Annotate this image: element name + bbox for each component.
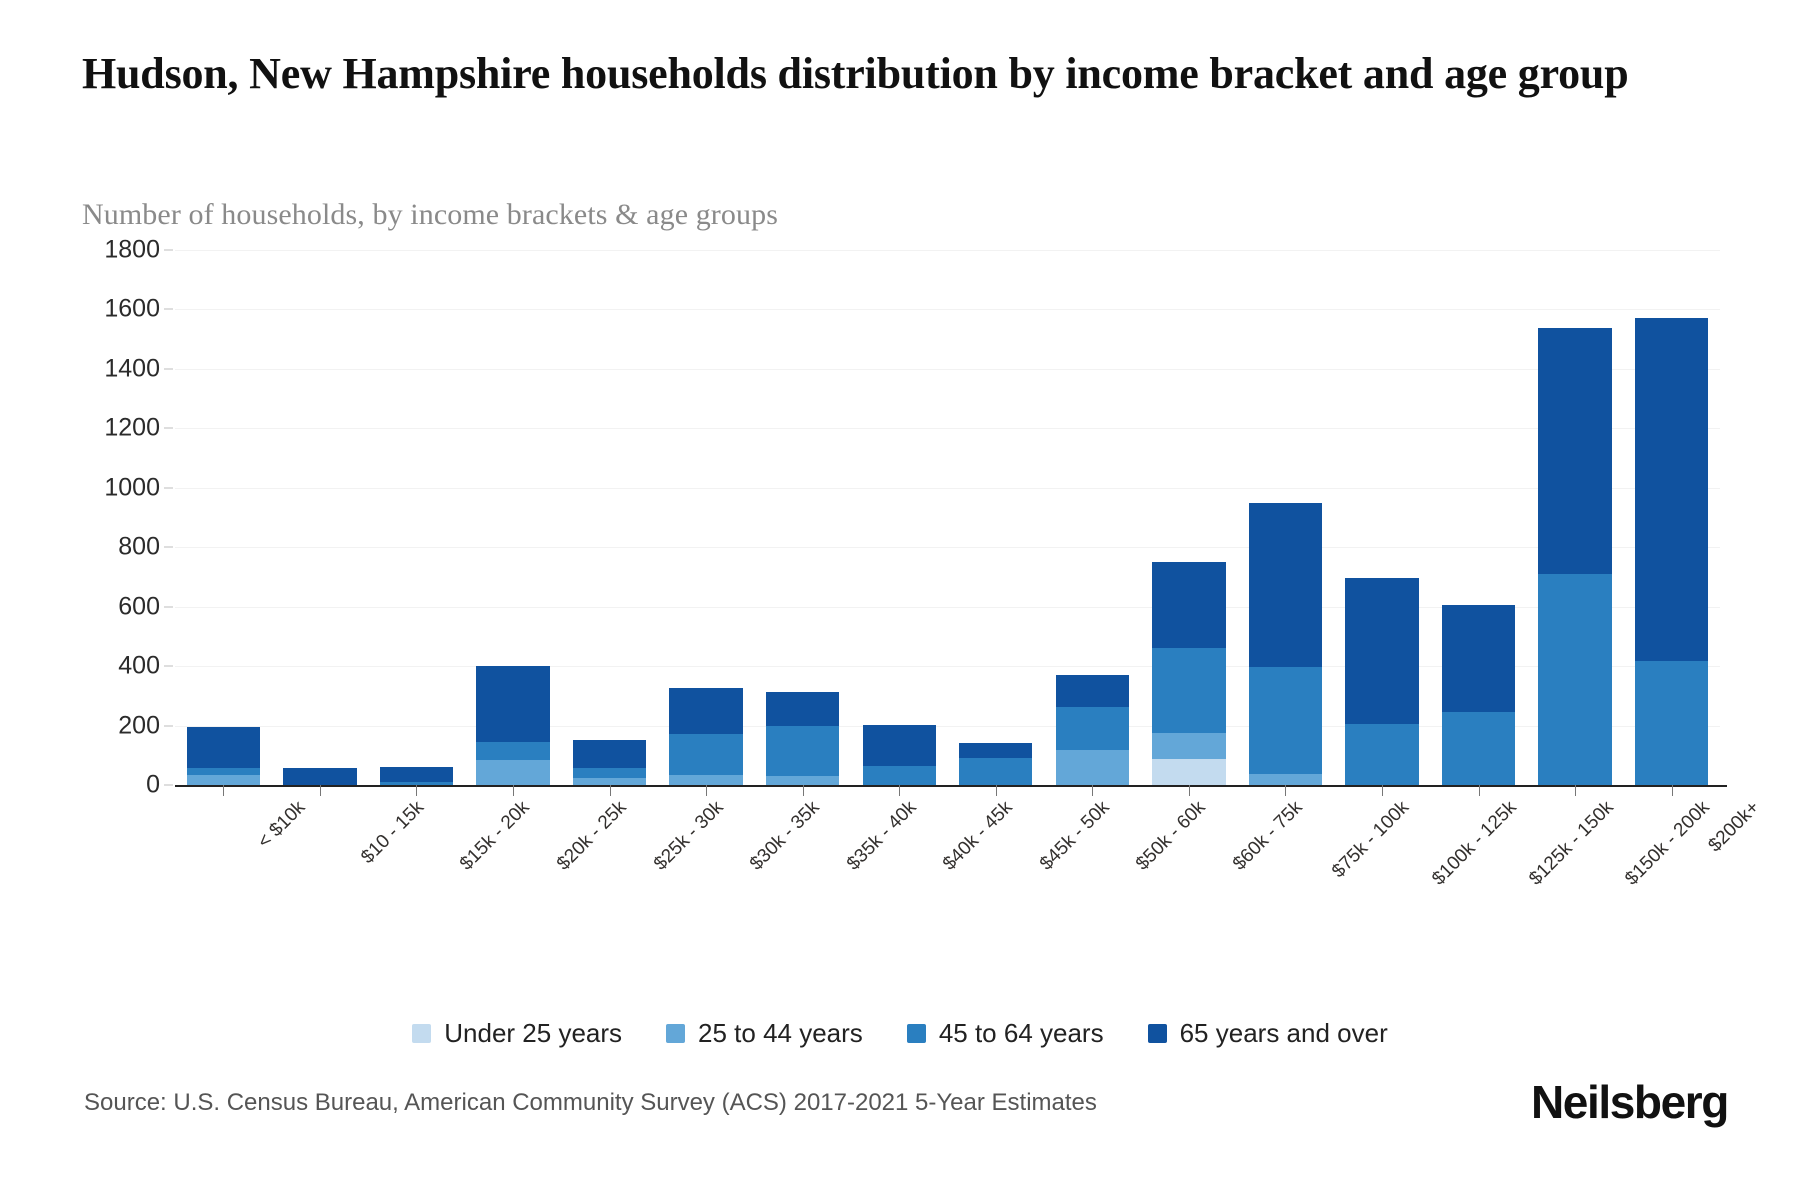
- legend-label: 25 to 44 years: [698, 1018, 863, 1049]
- x-axis-label: $20k - 25k: [553, 797, 631, 875]
- y-axis-label: 1800: [0, 236, 160, 265]
- bar-segment[interactable]: [766, 692, 839, 727]
- bar-segment[interactable]: [573, 778, 646, 785]
- bar-segment[interactable]: [476, 760, 549, 785]
- x-axis-tickmarks: [175, 785, 1720, 797]
- bar-series-area: [175, 250, 1720, 785]
- x-axis-label: $50k - 60k: [1132, 797, 1210, 875]
- bar-segment[interactable]: [1249, 774, 1322, 785]
- y-axis-label: 1600: [0, 295, 160, 324]
- legend-item[interactable]: 65 years and over: [1148, 1018, 1388, 1049]
- bar-segment[interactable]: [1152, 648, 1225, 734]
- legend-swatch-icon: [907, 1024, 926, 1043]
- legend-swatch-icon: [666, 1024, 685, 1043]
- legend-item[interactable]: 45 to 64 years: [907, 1018, 1104, 1049]
- y-axis-tickmark: [164, 368, 173, 369]
- bar-segment[interactable]: [573, 768, 646, 778]
- bar-segment[interactable]: [476, 742, 549, 760]
- x-axis-tickmark: [803, 785, 804, 796]
- y-axis-label: 0: [0, 771, 160, 800]
- y-axis-label: 1200: [0, 414, 160, 443]
- source-note: Source: U.S. Census Bureau, American Com…: [84, 1089, 1097, 1117]
- stacked-bar[interactable]: [476, 666, 549, 785]
- chart-legend: Under 25 years25 to 44 years45 to 64 yea…: [0, 1018, 1800, 1049]
- bar-segment[interactable]: [1345, 578, 1418, 724]
- y-axis-tickmark: [164, 309, 173, 310]
- stacked-bar[interactable]: [669, 688, 742, 785]
- bar-segment[interactable]: [1249, 503, 1322, 667]
- stacked-bar[interactable]: [1249, 503, 1322, 785]
- x-axis-tickmark: [1479, 785, 1480, 796]
- bar-slot[interactable]: [561, 250, 658, 785]
- stacked-bar[interactable]: [1635, 318, 1708, 785]
- bar-segment[interactable]: [573, 740, 646, 768]
- y-axis-label: 600: [0, 592, 160, 621]
- bar-slot[interactable]: [1237, 250, 1334, 785]
- bar-segment[interactable]: [1152, 562, 1225, 648]
- bar-segment[interactable]: [766, 776, 839, 785]
- bar-segment[interactable]: [380, 767, 453, 782]
- bar-segment[interactable]: [669, 688, 742, 735]
- y-axis-tickmark: [164, 487, 173, 488]
- y-axis-tickmark: [164, 606, 173, 607]
- x-axis-tickmark: [416, 785, 417, 796]
- x-axis-tickmark: [223, 785, 224, 796]
- bar-segment[interactable]: [1538, 328, 1611, 574]
- bar-slot[interactable]: [272, 250, 369, 785]
- bar-segment[interactable]: [1345, 724, 1418, 785]
- bar-segment[interactable]: [766, 726, 839, 776]
- bar-segment[interactable]: [187, 727, 260, 768]
- x-axis-label: $200k+: [1704, 797, 1764, 857]
- bar-segment[interactable]: [1249, 667, 1322, 774]
- y-axis-tickmark: [164, 428, 173, 429]
- x-axis-label: $35k - 40k: [843, 797, 921, 875]
- bar-slot[interactable]: [1623, 250, 1720, 785]
- y-axis-tickmark: [164, 666, 173, 667]
- y-axis-tickmark: [164, 547, 173, 548]
- bar-segment[interactable]: [283, 768, 356, 785]
- bar-segment[interactable]: [669, 775, 742, 785]
- y-axis-tickmark: [164, 250, 173, 251]
- stacked-bar[interactable]: [1345, 578, 1418, 785]
- x-axis-label: $45k - 50k: [1036, 797, 1114, 875]
- bar-segment[interactable]: [1056, 707, 1129, 750]
- x-axis-label: $40k - 45k: [939, 797, 1017, 875]
- y-axis-tickmark: [164, 785, 173, 786]
- x-axis-label: $100k - 125k: [1428, 797, 1521, 890]
- stacked-bar[interactable]: [1152, 562, 1225, 785]
- bar-slot[interactable]: [1044, 250, 1141, 785]
- chart-subtitle: Number of households, by income brackets…: [82, 198, 1382, 232]
- bar-slot[interactable]: [754, 250, 851, 785]
- stacked-bar[interactable]: [187, 727, 260, 785]
- x-axis-label: < $10k: [254, 797, 310, 853]
- bar-segment[interactable]: [1442, 605, 1515, 713]
- legend-label: Under 25 years: [444, 1018, 622, 1049]
- bar-segment[interactable]: [476, 666, 549, 742]
- bar-slot[interactable]: [1334, 250, 1431, 785]
- bar-slot[interactable]: [948, 250, 1045, 785]
- bar-segment[interactable]: [863, 725, 936, 766]
- bar-segment[interactable]: [959, 758, 1032, 785]
- bar-slot[interactable]: [851, 250, 948, 785]
- stacked-bar[interactable]: [863, 725, 936, 785]
- bar-slot[interactable]: [1141, 250, 1238, 785]
- bar-segment[interactable]: [669, 734, 742, 775]
- bar-slot[interactable]: [1430, 250, 1527, 785]
- brand-logo: Neilsberg: [1531, 1075, 1728, 1129]
- x-axis-tickmark: [996, 785, 997, 796]
- x-axis-tickmark: [1672, 785, 1673, 796]
- bar-slot[interactable]: [658, 250, 755, 785]
- x-axis-tickmark: [706, 785, 707, 796]
- bar-segment[interactable]: [1442, 712, 1515, 785]
- x-axis-tickmark: [610, 785, 611, 796]
- y-axis-label: 200: [0, 711, 160, 740]
- x-axis-tickmark: [1382, 785, 1383, 796]
- x-axis-tickmark: [1285, 785, 1286, 796]
- bar-segment[interactable]: [187, 768, 260, 775]
- x-axis-label: $75k - 100k: [1329, 797, 1415, 883]
- stacked-bar[interactable]: [766, 692, 839, 785]
- legend-item[interactable]: Under 25 years: [412, 1018, 622, 1049]
- stacked-bar[interactable]: [959, 743, 1032, 785]
- y-axis-label: 800: [0, 533, 160, 562]
- legend-item[interactable]: 25 to 44 years: [666, 1018, 863, 1049]
- stacked-bar[interactable]: [573, 740, 646, 785]
- y-axis-label: 1000: [0, 473, 160, 502]
- x-axis-label: $30k - 35k: [746, 797, 824, 875]
- bar-slot[interactable]: [1527, 250, 1624, 785]
- x-axis-label: $15k - 20k: [456, 797, 534, 875]
- stacked-bar[interactable]: [1538, 328, 1611, 785]
- x-axis-label: $60k - 75k: [1229, 797, 1307, 875]
- x-axis-tickmark: [1189, 785, 1190, 796]
- legend-label: 45 to 64 years: [939, 1018, 1104, 1049]
- legend-swatch-icon: [1148, 1024, 1167, 1043]
- bar-segment[interactable]: [863, 766, 936, 785]
- page-title: Hudson, New Hampshire households distrib…: [82, 48, 1702, 100]
- y-axis-label: 1400: [0, 354, 160, 383]
- x-axis-label: $25k - 30k: [650, 797, 728, 875]
- bar-segment[interactable]: [187, 775, 260, 785]
- bar-segment[interactable]: [1635, 661, 1708, 785]
- stacked-bar[interactable]: [380, 767, 453, 785]
- x-axis-label: $10 - 15k: [357, 797, 429, 869]
- bar-segment[interactable]: [1152, 733, 1225, 759]
- bar-segment[interactable]: [1538, 574, 1611, 785]
- stacked-bar[interactable]: [1442, 605, 1515, 785]
- bar-segment[interactable]: [1152, 759, 1225, 785]
- bar-segment[interactable]: [1635, 318, 1708, 660]
- x-axis-tickmark: [1092, 785, 1093, 796]
- x-axis-tickmark: [899, 785, 900, 796]
- stacked-bar[interactable]: [283, 768, 356, 785]
- bar-segment[interactable]: [1056, 750, 1129, 785]
- y-axis-label: 400: [0, 652, 160, 681]
- legend-label: 65 years and over: [1180, 1018, 1388, 1049]
- bar-slot[interactable]: [368, 250, 465, 785]
- x-axis-tickmark: [1575, 785, 1576, 796]
- x-axis-tickmark: [513, 785, 514, 796]
- bar-segment[interactable]: [1056, 675, 1129, 707]
- bar-slot[interactable]: [175, 250, 272, 785]
- y-axis-tickmark: [164, 725, 173, 726]
- x-axis-label: $150k - 200k: [1621, 797, 1714, 890]
- x-axis-labels: < $10k$10 - 15k$15k - 20k$20k - 25k$25k …: [175, 797, 1720, 907]
- stacked-bar[interactable]: [1056, 675, 1129, 785]
- x-axis-label: $125k - 150k: [1525, 797, 1618, 890]
- legend-swatch-icon: [412, 1024, 431, 1043]
- x-axis-tickmark: [320, 785, 321, 796]
- chart-page: Hudson, New Hampshire households distrib…: [0, 0, 1800, 1200]
- bar-slot[interactable]: [465, 250, 562, 785]
- bar-segment[interactable]: [959, 743, 1032, 758]
